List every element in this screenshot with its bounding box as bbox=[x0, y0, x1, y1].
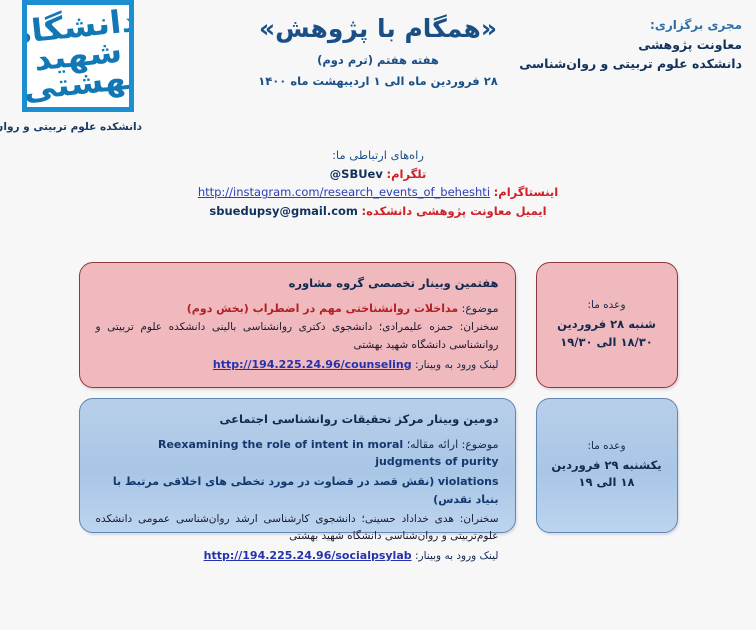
event-card-counseling: هفتمین وبینار تخصصی گروه مشاوره موضوع: م… bbox=[79, 262, 516, 388]
event-date-label: وعده ما: bbox=[551, 440, 661, 452]
contact-row-email: ایمیل معاونت پژوهشی دانشکده: sbuedupsy@g… bbox=[0, 202, 756, 221]
event-title: دومین وبینار مرکز تحقیقات روانشناسی اجتم… bbox=[96, 412, 499, 428]
organizer-label: مجری برگزاری: bbox=[519, 16, 742, 35]
event-date-day: یکشنبه ۲۹ فروردین bbox=[551, 457, 661, 474]
event-topic-label: موضوع: ارائه مقاله؛ bbox=[407, 438, 499, 451]
event-row: دومین وبینار مرکز تحقیقات روانشناسی اجتم… bbox=[0, 398, 756, 533]
email-address[interactable]: sbuedupsy@gmail.com bbox=[209, 202, 357, 221]
event-card-socialpsylab: دومین وبینار مرکز تحقیقات روانشناسی اجتم… bbox=[79, 398, 516, 533]
event-date-label: وعده ما: bbox=[557, 299, 656, 311]
university-logo-calligraphy-icon: دانشگاه شهید بهشتی bbox=[22, 0, 134, 112]
contact-block: راه‌های ارتباطی ما: تلگرام: @SBUev اینست… bbox=[0, 146, 756, 221]
poster-page: دانشگاه شهید بهشتی دانشکده علوم تربیتی و… bbox=[0, 0, 756, 630]
email-label: ایمیل معاونت پژوهشی دانشکده: bbox=[362, 204, 547, 218]
event-topic-text: مداخلات روانشناختی مهم در اضطراب (بخش دو… bbox=[187, 302, 458, 315]
telegram-label: تلگرام: bbox=[387, 167, 427, 181]
instagram-label: اینستاگرام: bbox=[494, 185, 558, 199]
event-link-label: لینک ورود به وبینار: bbox=[415, 359, 499, 371]
event-title: هفتمین وبینار تخصصی گروه مشاوره bbox=[96, 276, 499, 292]
telegram-handle[interactable]: @SBUev bbox=[330, 165, 383, 184]
university-logo-frame: دانشگاه شهید بهشتی bbox=[22, 0, 134, 112]
event-date-card: وعده ما: یکشنبه ۲۹ فروردین ۱۸ الی ۱۹ bbox=[536, 398, 678, 533]
event-link-row: لینک ورود به وبینار: http://194.225.24.9… bbox=[96, 549, 499, 562]
poster-header: دانشگاه شهید بهشتی دانشکده علوم تربیتی و… bbox=[0, 0, 756, 140]
faculty-caption: دانشکده علوم تربیتی و روان‌شناسی bbox=[14, 121, 142, 133]
event-date-time: ۱۸ الی ۱۹ bbox=[551, 474, 661, 491]
event-speaker: سخنران: هدی خداداد حسینی؛ دانشجوی کارشنا… bbox=[96, 511, 499, 546]
event-link-row: لینک ورود به وبینار: http://194.225.24.9… bbox=[96, 358, 499, 371]
event-webinar-link[interactable]: http://194.225.24.96/socialpsylab bbox=[204, 549, 412, 562]
event-date-day: شنبه ۲۸ فروردین bbox=[557, 316, 656, 333]
event-topic-label: موضوع: bbox=[462, 302, 499, 315]
event-topic-row-continued: violations (نقش قصد در قضاوت در مورد تخط… bbox=[96, 473, 499, 509]
organizer-name: معاونت پژوهشی bbox=[519, 35, 742, 54]
event-topic-row: موضوع: مداخلات روانشناختی مهم در اضطراب … bbox=[96, 300, 499, 318]
instagram-link[interactable]: http://instagram.com/research_events_of_… bbox=[198, 183, 490, 202]
organizer-faculty: دانشکده علوم تربیتی و روان‌شناسی bbox=[519, 54, 742, 73]
event-date-card: وعده ما: شنبه ۲۸ فروردین ۱۸/۳۰ الی ۱۹/۳۰ bbox=[536, 262, 678, 388]
contact-row-instagram: اینستاگرام: http://instagram.com/researc… bbox=[0, 183, 756, 202]
event-row: هفتمین وبینار تخصصی گروه مشاوره موضوع: م… bbox=[0, 262, 756, 388]
events-section: هفتمین وبینار تخصصی گروه مشاوره موضوع: م… bbox=[0, 262, 756, 543]
university-logo-block: دانشگاه شهید بهشتی دانشکده علوم تربیتی و… bbox=[14, 0, 142, 133]
event-link-label: لینک ورود به وبینار: bbox=[415, 550, 499, 562]
contact-row-telegram: تلگرام: @SBUev bbox=[0, 165, 756, 184]
event-topic-row: موضوع: ارائه مقاله؛ Reexamining the role… bbox=[96, 436, 499, 472]
event-webinar-link[interactable]: http://194.225.24.96/counseling bbox=[213, 358, 412, 371]
event-date-time: ۱۸/۳۰ الی ۱۹/۳۰ bbox=[557, 334, 656, 351]
event-topic-english-line2: violations bbox=[438, 475, 499, 488]
contact-heading: راه‌های ارتباطی ما: bbox=[0, 146, 756, 165]
event-speaker: سخنران: حمزه علیمرادی؛ دانشجوی دکتری روا… bbox=[96, 319, 499, 354]
organizer-block: مجری برگزاری: معاونت پژوهشی دانشکده علوم… bbox=[519, 16, 742, 73]
